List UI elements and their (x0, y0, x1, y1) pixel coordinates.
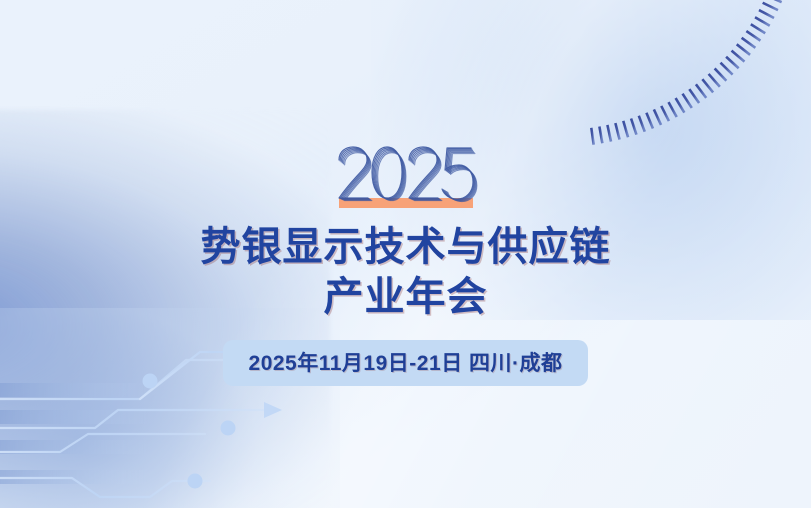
event-poster: 势银显示技术与供应链 产业年会 2025年11月19日-21日 四川·成都 (0, 0, 811, 508)
year-logo-2025-icon (331, 146, 481, 216)
date-venue-badge: 2025年11月19日-21日 四川·成都 (223, 340, 589, 386)
title-line-2: 产业年会 (0, 272, 811, 322)
year-logo (0, 146, 811, 216)
title-line-1: 势银显示技术与供应链 (0, 222, 811, 272)
page-title: 势银显示技术与供应链 产业年会 (0, 222, 811, 322)
